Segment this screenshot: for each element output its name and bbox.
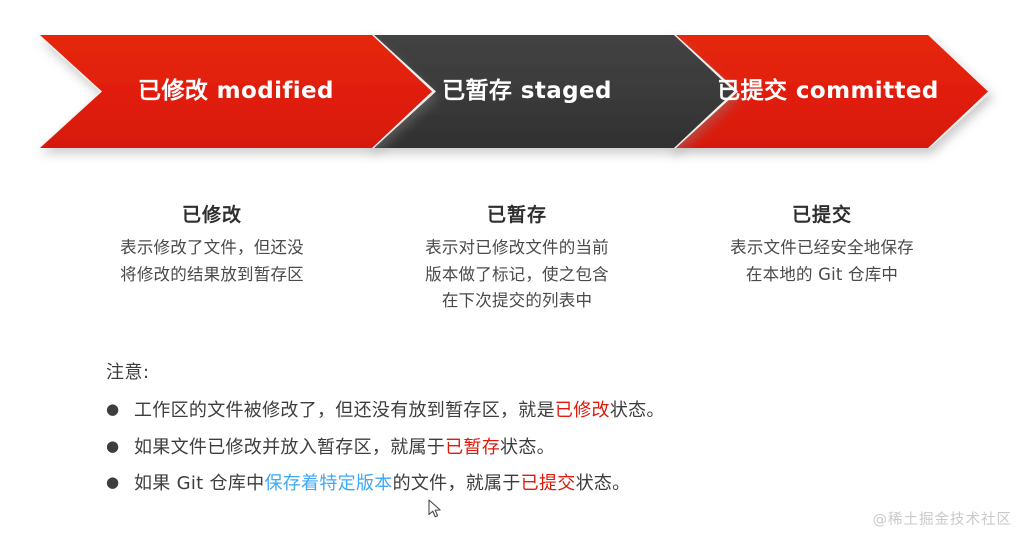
note-segment-highlight: 已暂存 (445, 437, 500, 458)
description-title-staged: 已暂存 (367, 200, 667, 227)
description-columns: 已修改 表示修改了文件，但还没 将修改的结果放到暂存区 已暂存 表示对已修改文件… (62, 200, 972, 315)
description-title-committed: 已提交 (672, 200, 972, 227)
description-body-modified: 表示修改了文件，但还没 将修改的结果放到暂存区 (62, 235, 362, 288)
watermark: @稀土掘金技术社区 (873, 508, 1013, 529)
note-segment-highlight: 已修改 (555, 400, 610, 421)
note-text: 如果 Git 仓库中保存着特定版本的文件，就属于已提交状态。 (134, 471, 906, 497)
note-list-item: ● 如果文件已修改并放入暂存区，就属于已暂存状态。 (106, 435, 906, 461)
description-column-staged: 已暂存 表示对已修改文件的当前 版本做了标记，使之包含 在下次提交的列表中 (367, 200, 667, 315)
bullet-icon: ● (106, 398, 134, 421)
bullet-icon: ● (106, 471, 134, 494)
description-line: 表示修改了文件，但还没 (62, 235, 362, 262)
note-segment: 如果文件已修改并放入暂存区，就属于 (134, 437, 445, 458)
description-body-staged: 表示对已修改文件的当前 版本做了标记，使之包含 在下次提交的列表中 (367, 235, 667, 315)
notes-section: 注意: ● 工作区的文件被修改了，但还没有放到暂存区，就是已修改状态。 ● 如果… (106, 358, 906, 508)
bullet-icon: ● (106, 435, 134, 458)
note-segment: 如果 Git 仓库中 (134, 473, 264, 494)
description-line: 在本地的 Git 仓库中 (672, 262, 972, 289)
note-segment: 状态。 (500, 437, 555, 458)
description-title-modified: 已修改 (62, 200, 362, 227)
description-line: 表示文件已经安全地保存 (672, 235, 972, 262)
note-text: 工作区的文件被修改了，但还没有放到暂存区，就是已修改状态。 (134, 398, 906, 424)
note-list-item: ● 如果 Git 仓库中保存着特定版本的文件，就属于已提交状态。 (106, 471, 906, 497)
note-segment: 工作区的文件被修改了，但还没有放到暂存区，就是 (134, 400, 555, 421)
description-column-committed: 已提交 表示文件已经安全地保存 在本地的 Git 仓库中 (672, 200, 972, 315)
flow-arrow-modified (38, 35, 436, 148)
note-text: 如果文件已修改并放入暂存区，就属于已暂存状态。 (134, 435, 906, 461)
flow-arrows-svg (0, 0, 1032, 180)
note-segment: 的文件，就属于 (393, 473, 521, 494)
process-flow-banner: 已修改 modified 已暂存 staged 已提交 committed (0, 0, 1032, 180)
note-segment: 状态。 (576, 473, 631, 494)
description-body-committed: 表示文件已经安全地保存 在本地的 Git 仓库中 (672, 235, 972, 288)
description-line: 表示对已修改文件的当前 (367, 235, 667, 262)
note-segment-highlight: 已提交 (521, 473, 576, 494)
note-list-item: ● 工作区的文件被修改了，但还没有放到暂存区，就是已修改状态。 (106, 398, 906, 424)
note-segment: 状态。 (610, 400, 665, 421)
description-line: 版本做了标记，使之包含 (367, 262, 667, 289)
description-line: 将修改的结果放到暂存区 (62, 262, 362, 289)
description-column-modified: 已修改 表示修改了文件，但还没 将修改的结果放到暂存区 (62, 200, 362, 315)
description-line: 在下次提交的列表中 (367, 288, 667, 315)
note-segment-highlight: 保存着特定版本 (264, 473, 392, 494)
notes-heading: 注意: (106, 358, 906, 384)
